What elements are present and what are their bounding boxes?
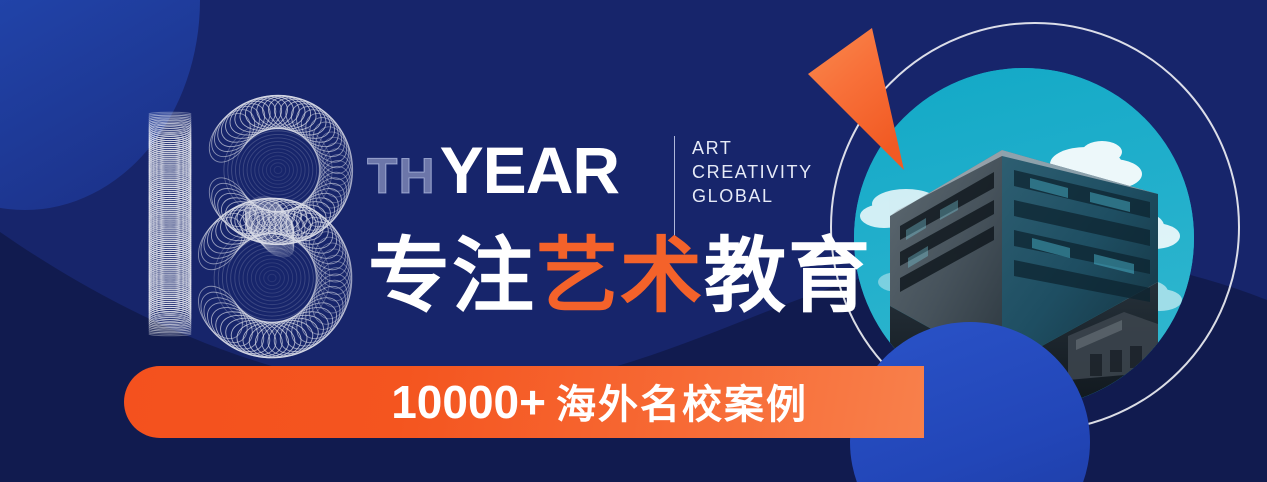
tagline-line-global: GLOBAL [692, 187, 813, 205]
stats-pill[interactable]: 10000+ 海外名校案例 [124, 366, 924, 438]
headline-part-3: 教育 [704, 236, 872, 318]
stats-label: 海外名校案例 [556, 385, 808, 425]
tagline-line-creativity: CREATIVITY [692, 163, 813, 181]
anniversary-number-13 [140, 104, 390, 344]
headline-part-2: 艺术 [536, 236, 704, 318]
tagline-block: ART CREATIVITY GLOBAL [692, 139, 813, 205]
headline-part-1: 专注 [368, 236, 536, 318]
orange-triangle-icon [800, 14, 930, 174]
ordinal-suffix: TH [367, 151, 436, 201]
anniversary-year-label: TH YEAR [367, 139, 619, 203]
tagline-line-art: ART [692, 139, 813, 157]
tagline-divider [674, 136, 675, 236]
promo-banner: TH YEAR ART CREATIVITY GLOBAL 专注 艺术 教育 1… [0, 0, 1267, 482]
headline: 专注 艺术 教育 [368, 236, 872, 318]
stats-pill-text: 10000+ 海外名校案例 [391, 379, 808, 425]
stats-count: 10000+ [391, 379, 546, 425]
year-word: YEAR [440, 137, 619, 203]
